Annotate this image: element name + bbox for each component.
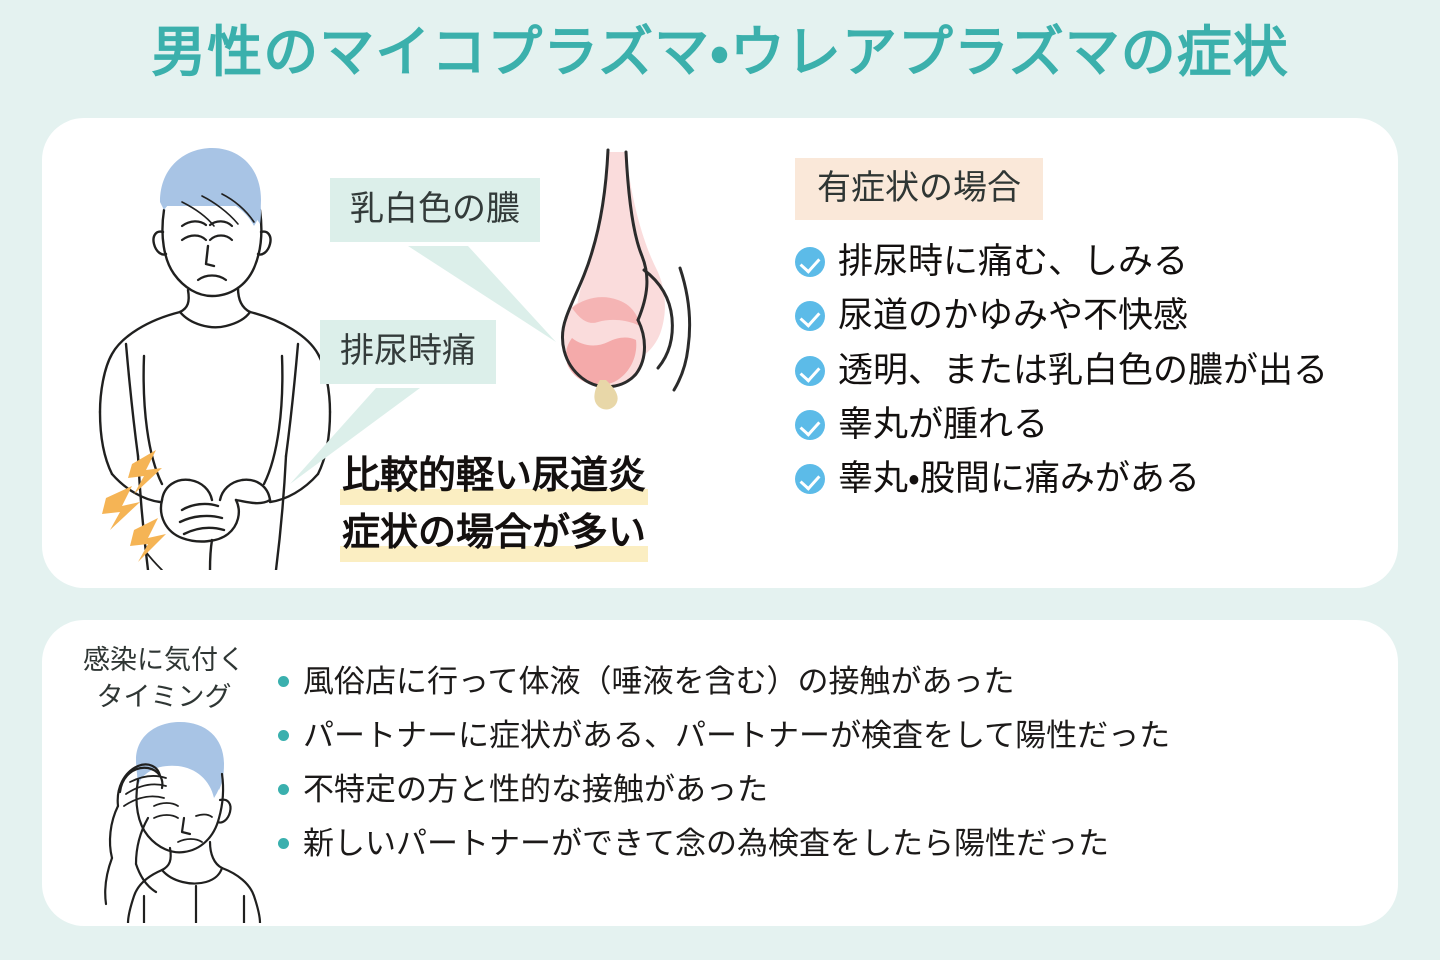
bubble-milky-pus: 乳白色の膿	[330, 178, 540, 242]
list-item: 排尿時に痛む、しみる	[795, 242, 1415, 282]
check-circle-icon	[795, 410, 825, 440]
list-item: パートナーに症状がある、パートナーが検査をして陽性だった	[278, 714, 1388, 758]
symptom-label: 透明、または乳白色の膿が出る	[838, 351, 1328, 391]
check-circle-icon	[795, 356, 825, 386]
bubble-painful-urination: 排尿時痛	[320, 320, 496, 384]
bullet-dot-icon	[278, 730, 289, 741]
symptoms-header: 有症状の場合	[795, 158, 1043, 220]
list-item: 不特定の方と性的な接触があった	[278, 768, 1388, 812]
list-item: 透明、または乳白色の膿が出る	[795, 351, 1415, 391]
list-item: 新しいパートナーができて念の為検査をしたら陽性だった	[278, 822, 1388, 866]
highlight-line-1: 比較的軽い尿道炎	[340, 448, 648, 505]
symptom-list: 排尿時に痛む、しみる 尿道のかゆみや不快感 透明、または乳白色の膿が出る 睾丸が…	[795, 242, 1415, 499]
check-circle-icon	[795, 301, 825, 331]
bullet-dot-icon	[278, 784, 289, 795]
timing-label-text: パートナーに症状がある、パートナーが検査をして陽性だった	[303, 714, 1170, 758]
check-circle-icon	[795, 247, 825, 277]
symptom-label: 尿道のかゆみや不快感	[838, 296, 1188, 336]
timing-label-text: 風俗店に行って体液（唾液を含む）の接触があった	[303, 660, 1014, 704]
list-item: 尿道のかゆみや不快感	[795, 296, 1415, 336]
timing-label-line-1: 感染に気付く	[64, 642, 264, 679]
timing-list: 風俗店に行って体液（唾液を含む）の接触があった パートナーに症状がある、パートナ…	[278, 660, 1388, 876]
highlight-statement: 比較的軽い尿道炎 症状の場合が多い	[340, 448, 648, 562]
list-item: 風俗店に行って体液（唾液を含む）の接触があった	[278, 660, 1388, 704]
list-item: 睾丸が腫れる	[795, 405, 1415, 445]
timing-label-text: 新しいパートナーができて念の為検査をしたら陽性だった	[303, 822, 1109, 866]
worried-man-illustration	[92, 718, 272, 923]
highlight-line-2: 症状の場合が多い	[340, 505, 648, 562]
man-in-pain-illustration	[86, 140, 336, 570]
timing-label-line-2: タイミング	[64, 679, 264, 716]
timing-label-text: 不特定の方と性的な接触があった	[303, 768, 768, 812]
check-circle-icon	[795, 464, 825, 494]
bullet-dot-icon	[278, 676, 289, 687]
symptom-label: 睾丸・股間に痛みがある	[838, 459, 1200, 499]
list-item: 睾丸・股間に痛みがある	[795, 459, 1415, 499]
symptom-label: 排尿時に痛む、しみる	[838, 242, 1188, 282]
symptom-label: 睾丸が腫れる	[838, 405, 1048, 445]
page-title: 男性のマイコプラズマ・ウレアプラズマの症状	[0, 22, 1440, 83]
timing-label: 感染に気付く タイミング	[64, 642, 264, 717]
bullet-dot-icon	[278, 838, 289, 849]
symptoms-panel: 有症状の場合 排尿時に痛む、しみる 尿道のかゆみや不快感 透明、または乳白色の膿…	[795, 158, 1415, 513]
